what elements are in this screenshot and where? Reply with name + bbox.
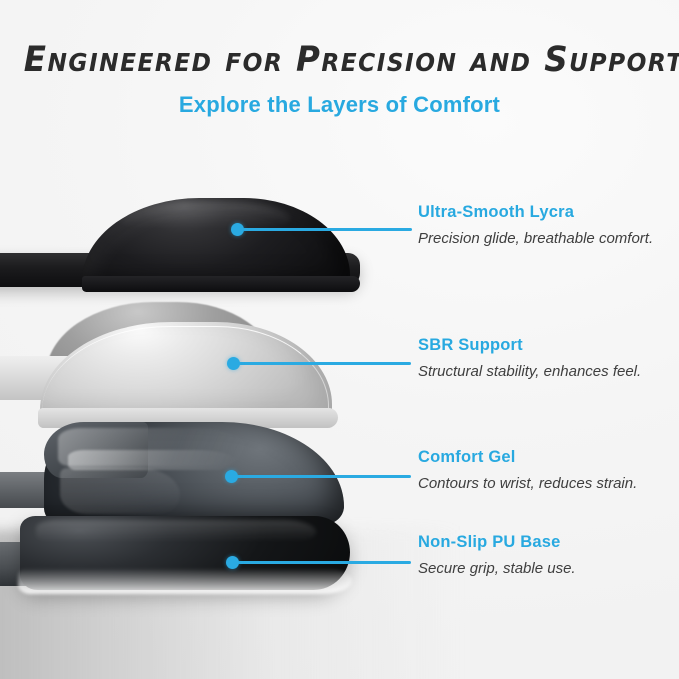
layer-gel-highlight-mid <box>68 450 236 470</box>
callout-heading-4: Non-Slip PU Base <box>418 533 668 552</box>
layer-lycra-lip <box>82 276 360 292</box>
callout-description-1: Precision glide, breathable comfort. <box>418 229 668 250</box>
layer-pu-edge <box>18 568 352 594</box>
callout-description-3: Contours to wrist, reduces strain. <box>418 474 668 495</box>
callout-connector-line-3 <box>237 475 411 478</box>
callout-description-4: Secure grip, stable use. <box>418 559 668 580</box>
callout-marker-dot-3[interactable] <box>225 470 238 483</box>
callout-description-2: Structural stability, enhances feel. <box>418 362 668 383</box>
callout-connector-line-4 <box>238 561 411 564</box>
callout-non-slip-pu-base: Non-Slip PU Base Secure grip, stable use… <box>418 533 668 580</box>
layer-lycra-highlight <box>120 202 290 228</box>
page-title: Engineered for Precision and Support <box>24 40 655 80</box>
callout-comfort-gel: Comfort Gel Contours to wrist, reduces s… <box>418 448 668 495</box>
callout-heading-1: Ultra-Smooth Lycra <box>418 203 668 222</box>
callout-marker-dot-2[interactable] <box>227 357 240 370</box>
callout-connector-line-2 <box>239 362 411 365</box>
callout-marker-dot-1[interactable] <box>231 223 244 236</box>
callout-heading-3: Comfort Gel <box>418 448 668 467</box>
product-infographic: Engineered for Precision and Support Exp… <box>0 0 679 679</box>
callout-marker-dot-4[interactable] <box>226 556 239 569</box>
product-layer-stack <box>0 150 420 620</box>
layer-pu-highlight <box>36 520 316 542</box>
callout-heading-2: SBR Support <box>418 336 668 355</box>
layer-gel-highlight-lower <box>60 468 180 514</box>
callout-connector-line-1 <box>243 228 412 231</box>
callout-ultra-smooth-lycra: Ultra-Smooth Lycra Precision glide, brea… <box>418 203 668 250</box>
page-subtitle: Explore the Layers of Comfort <box>0 92 679 118</box>
callout-sbr-support: SBR Support Structural stability, enhanc… <box>418 336 668 383</box>
